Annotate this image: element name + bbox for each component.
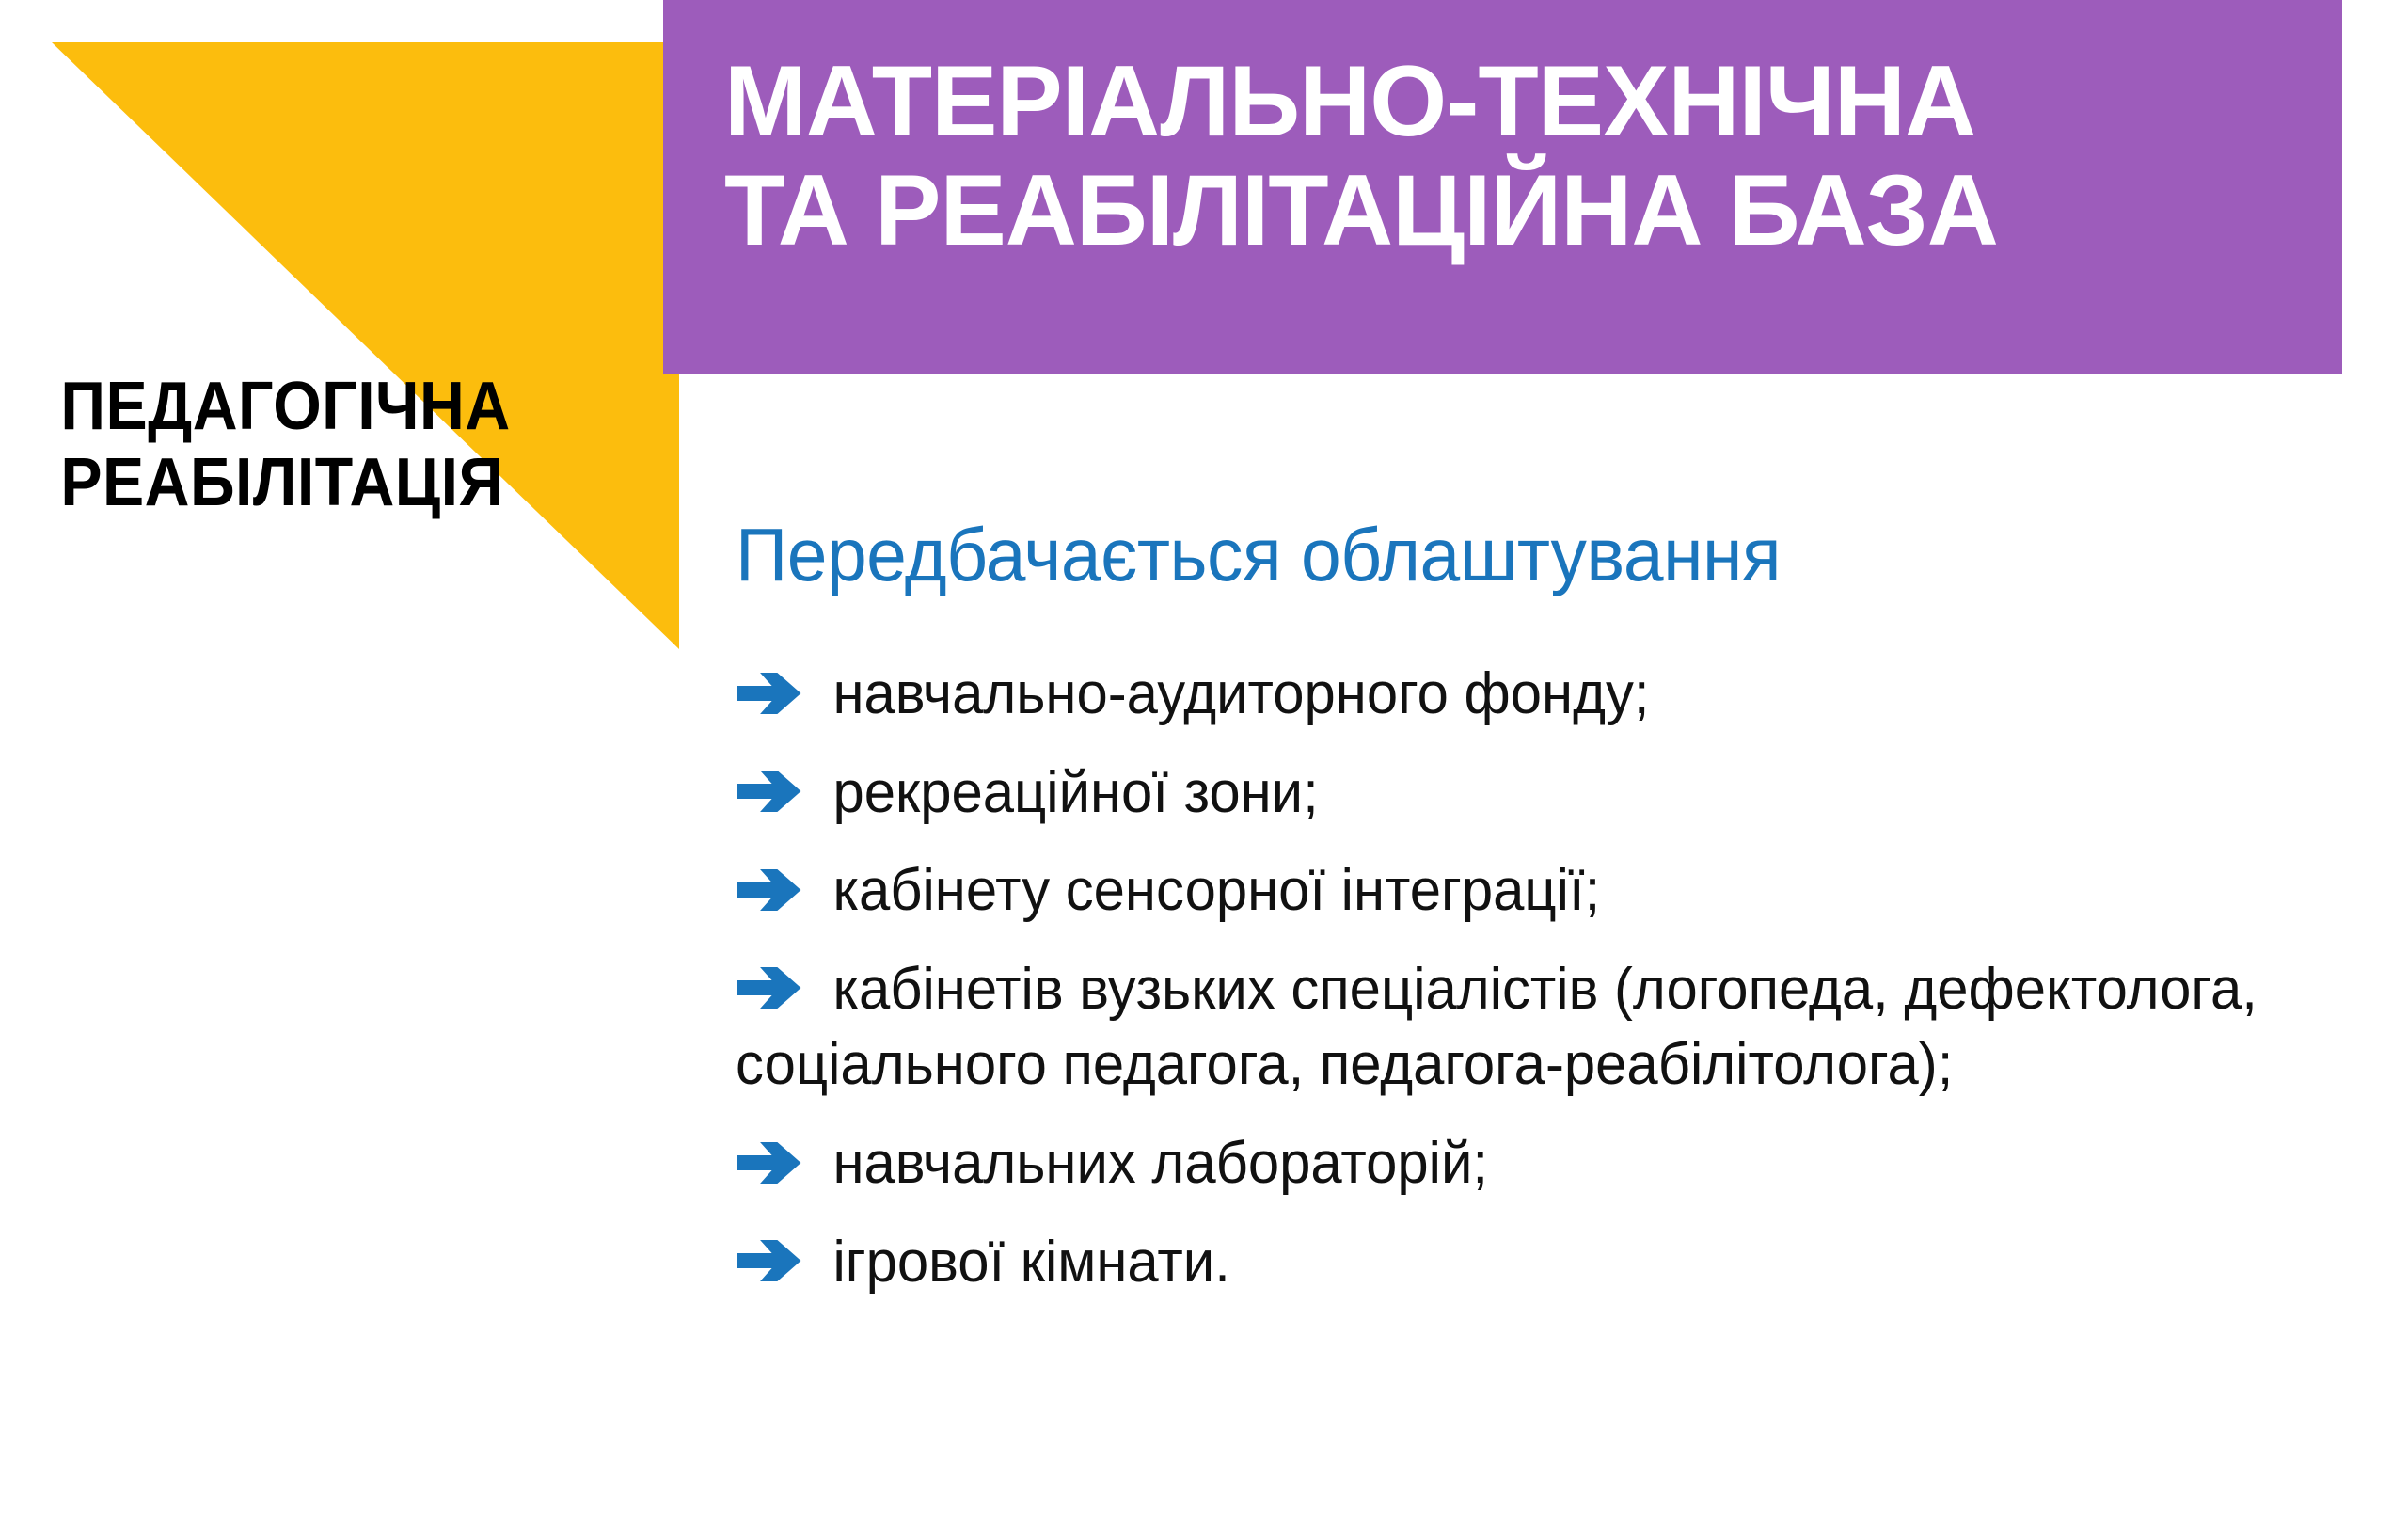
- arrow-right-icon: [736, 769, 802, 814]
- list-item: кабінетів вузьких спеціалістів (логопеда…: [736, 952, 2297, 1104]
- list-item-label: кабінету сенсорної інтеграції;: [832, 858, 1600, 923]
- content-area: Передбачається облаштування навчально-ау…: [0, 374, 2408, 1526]
- section-heading: Передбачається облаштування: [736, 512, 1781, 598]
- page-title: МАТЕРІАЛЬНО-ТЕХНІЧНА ТА РЕАБІЛІТАЦІЙНА Б…: [724, 47, 2337, 264]
- list-item: ігрової кімнати.: [736, 1225, 2297, 1301]
- list-item: навчальних лабораторій;: [736, 1126, 2297, 1202]
- list-item: навчально-аудиторного фонду;: [736, 657, 2297, 733]
- arrow-right-icon: [736, 1238, 802, 1283]
- arrow-right-icon: [736, 671, 802, 716]
- arrow-right-icon: [736, 1140, 802, 1185]
- list-item-label: рекреаційної зони;: [832, 760, 1318, 825]
- list-item: кабінету сенсорної інтеграції;: [736, 853, 2297, 930]
- arrow-right-icon: [736, 867, 802, 913]
- list-item-label: навчальних лабораторій;: [832, 1131, 1488, 1196]
- list-item-label: ігрової кімнати.: [832, 1230, 1229, 1295]
- arrow-right-icon: [736, 965, 802, 1010]
- provision-list: навчально-аудиторного фонду; рекреаційно…: [736, 657, 2353, 1323]
- list-item: рекреаційної зони;: [736, 755, 2297, 832]
- list-item-label: навчально-аудиторного фонду;: [832, 661, 1649, 726]
- list-item-label: кабінетів вузьких спеціалістів (логопеда…: [736, 957, 2257, 1098]
